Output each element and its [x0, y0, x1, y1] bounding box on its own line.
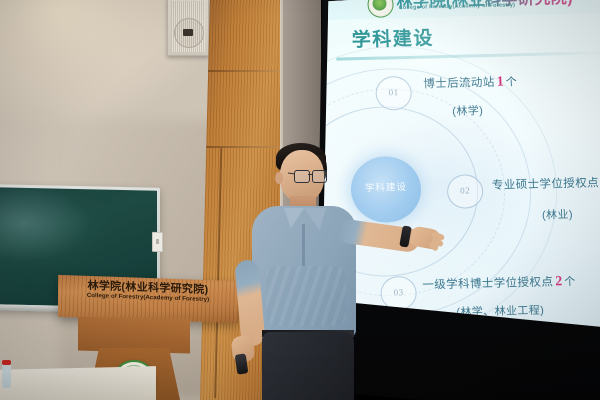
wall-speaker: [167, 0, 209, 56]
presenter: [218, 140, 398, 400]
water-bottle: [2, 364, 11, 388]
item-text-03: 一级学科博士学位授权点: [422, 276, 553, 291]
item-label-03: 一级学科博士学位授权点2个: [422, 272, 575, 294]
item-label-02: 专业硕士学位授权点: [492, 173, 600, 194]
wall-outlet: [152, 232, 163, 252]
speaker-badge: [183, 29, 193, 36]
node-index-01: 01: [376, 87, 410, 98]
node-index-02: 02: [448, 185, 482, 196]
item-sub-01: (林学): [452, 102, 483, 119]
presenter-ear: [275, 172, 283, 184]
item-label-01: 博士后流动站1个: [423, 72, 517, 92]
bottle-cap: [2, 360, 11, 365]
item-text-02: 专业硕士学位授权点: [492, 177, 600, 192]
podium-neck: [78, 317, 190, 354]
item-sub-02: (林业): [542, 206, 573, 223]
item-count-03: 2: [555, 274, 563, 289]
front-table: [0, 366, 156, 400]
item-unit-01: 个: [506, 76, 517, 88]
item-text-01: 博士后流动站: [423, 77, 495, 91]
presenter-trousers: [262, 332, 354, 400]
item-count-01: 1: [496, 75, 504, 90]
presentation-photo: 林学院(林业科学研究院) College of Forestry(Academy…: [0, 0, 600, 400]
item-unit-03: 个: [564, 276, 575, 288]
glasses-icon: [294, 170, 328, 182]
